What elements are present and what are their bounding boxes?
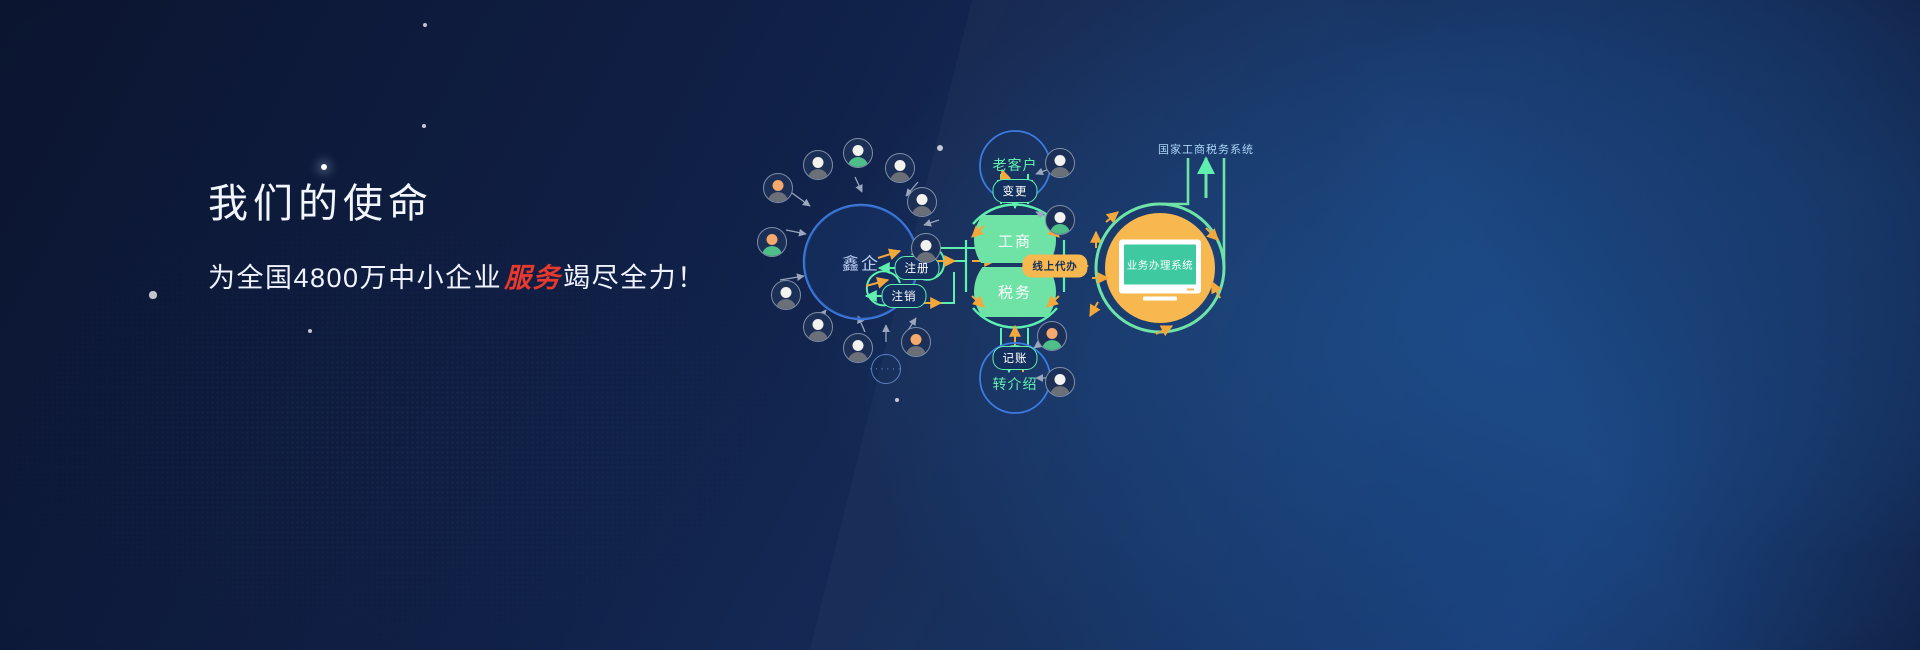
avatar-body-icon (808, 169, 828, 180)
avatar-head-icon (767, 234, 778, 245)
avatar-head-icon (911, 334, 922, 345)
avatar-head-icon (1055, 374, 1066, 385)
monitor-stand (1143, 297, 1177, 301)
avatar-head-icon (917, 194, 928, 205)
business-system-screen-label: 业务办理系统 (1127, 257, 1194, 272)
placeholder-circle (871, 354, 901, 384)
avatar-body-icon (1042, 340, 1062, 351)
customer-avatar (757, 227, 787, 257)
customer-avatar (1045, 367, 1075, 397)
customer-avatar (763, 173, 793, 203)
avatar-body-icon (1050, 167, 1070, 178)
subtitle-text-after: 竭尽全力！ (563, 263, 706, 293)
customer-avatar (907, 187, 937, 217)
avatar-body-icon (848, 352, 868, 363)
avatar-body-icon (768, 192, 788, 203)
avatar-head-icon (1047, 328, 1058, 339)
customer-avatar (911, 233, 941, 263)
avatar-body-icon (776, 299, 796, 310)
avatar-head-icon (853, 340, 864, 351)
customer-avatar (843, 138, 873, 168)
avatar-head-icon (853, 145, 864, 156)
avatar-head-icon (1055, 212, 1066, 223)
avatar-body-icon (916, 252, 936, 263)
customer-avatar (803, 150, 833, 180)
avatar-head-icon (781, 287, 792, 298)
avatar-head-icon (895, 160, 906, 171)
customer-hub-fill (804, 205, 918, 319)
customer-avatar (1037, 321, 1067, 351)
particle-dot (149, 291, 156, 298)
avatar-head-icon (813, 319, 824, 330)
avatar-head-icon (813, 157, 824, 168)
particle-dot (422, 124, 426, 128)
customer-avatar (771, 280, 801, 310)
avatar-body-icon (1050, 386, 1070, 397)
customer-avatar (885, 153, 915, 183)
customer-avatar (901, 327, 931, 357)
avatar-body-icon (1050, 224, 1070, 235)
subtitle-highlight: 服务 (502, 263, 563, 293)
particle-dot (308, 329, 312, 333)
avatar-body-icon (912, 206, 932, 217)
business-system-monitor: 业务办理系统 (1119, 240, 1201, 301)
subtitle-text-before: 为全国4800万中小企业 (208, 263, 502, 293)
customer-avatar (1045, 205, 1075, 235)
customer-avatar (1045, 148, 1075, 178)
avatar-head-icon (773, 180, 784, 191)
customer-avatar (843, 333, 873, 363)
avatar-head-icon (1055, 155, 1066, 166)
avatar-body-icon (762, 246, 782, 257)
avatar-body-icon (906, 346, 926, 357)
service-flow-diagram: 鑫企 ······ 注册 注销 变更 记账 线上代办 工商 税务 老客户 转介绍… (740, 120, 1300, 420)
monitor-led (1187, 289, 1194, 291)
top-node-arrow-up (1002, 170, 1008, 188)
avatar-head-icon (921, 240, 932, 251)
customer-avatar (803, 312, 833, 342)
avatar-body-icon (890, 172, 910, 183)
avatar-body-icon (848, 157, 868, 168)
particle-dot (423, 23, 427, 27)
avatar-body-icon (808, 331, 828, 342)
